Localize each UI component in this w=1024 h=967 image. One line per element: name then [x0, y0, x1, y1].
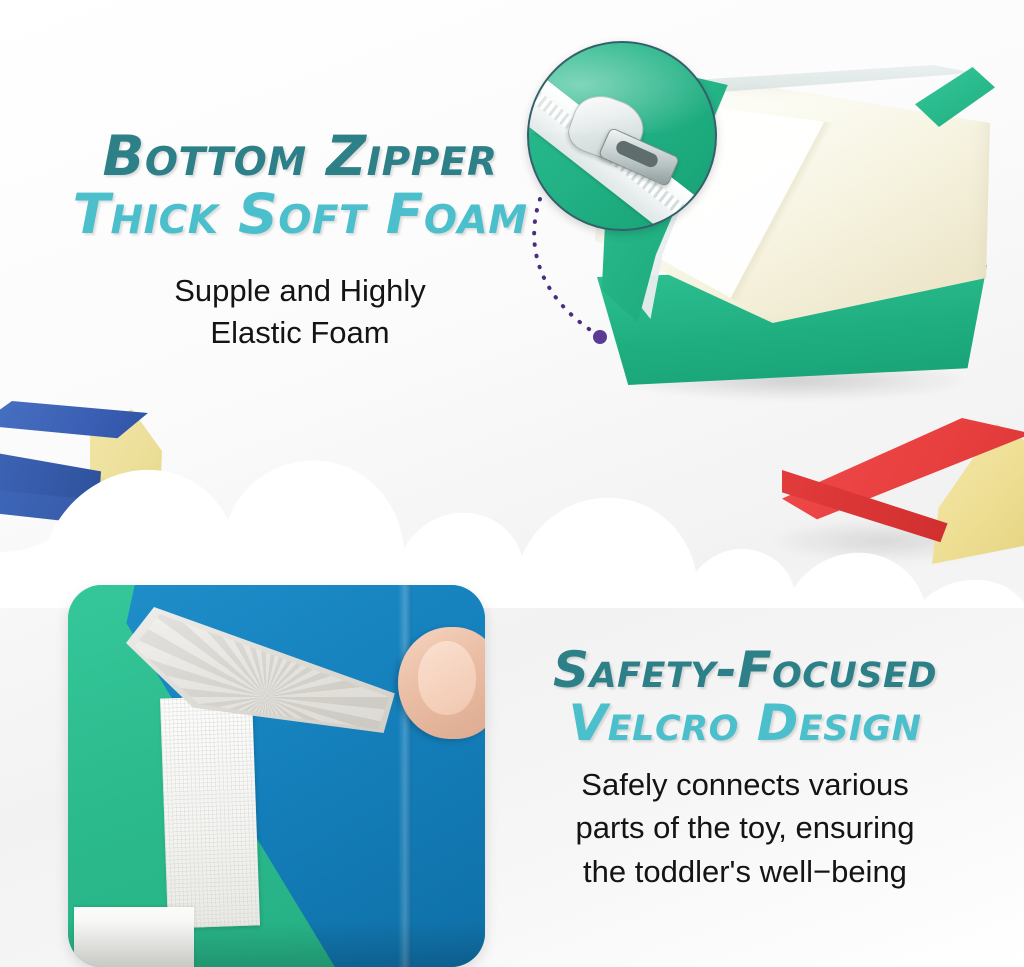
callout-leader-line-icon	[520, 195, 650, 355]
feature-top-body-line-1: Supple and Highly	[70, 270, 530, 312]
feature-top-headline-line1: Bottom Zipper	[70, 128, 530, 184]
feature-bottom-headline-line2: Velcro Design	[505, 698, 985, 749]
velcro-closeup-photo-icon	[68, 585, 485, 967]
feature-top-body: Supple and Highly Elastic Foam	[70, 270, 530, 354]
feature-top-text-block: Bottom Zipper Thick Soft Foam Supple and…	[70, 128, 530, 354]
velcro-loop-strip-weave	[160, 695, 260, 928]
infographic-canvas: Bottom Zipper Thick Soft Foam Supple and…	[0, 0, 1024, 967]
velcro-photo-blue-seam	[398, 585, 412, 967]
callout-gloss-highlight	[527, 41, 717, 133]
velcro-photo-bottom-shading	[68, 921, 485, 967]
feature-top-body-line-2: Elastic Foam	[70, 312, 530, 354]
feature-bottom-body-line-1: Safely connects various	[505, 763, 985, 806]
thumbnail-icon	[418, 641, 476, 715]
feature-top-headline-line2: Thick Soft Foam	[70, 186, 530, 242]
feature-bottom-text-block: Safety-Focused Velcro Design Safely conn…	[505, 645, 985, 893]
feature-bottom-body-line-3: the toddler's well−being	[505, 850, 985, 893]
feature-bottom-body: Safely connects various parts of the toy…	[505, 763, 985, 893]
cloud-scallop-divider-icon	[0, 448, 1024, 608]
feature-bottom-body-line-2: parts of the toy, ensuring	[505, 806, 985, 849]
feature-bottom-headline-line1: Safety-Focused	[505, 645, 985, 696]
